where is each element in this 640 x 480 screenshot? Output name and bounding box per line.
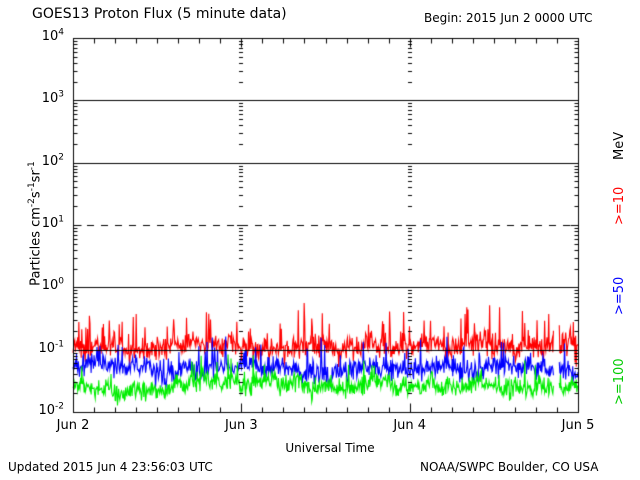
legend-ge10: >=10 <box>612 187 627 225</box>
unit-label: MeV <box>612 132 627 160</box>
x-tick-label: Jun 4 <box>393 418 426 433</box>
credit-label: NOAA/SWPC Boulder, CO USA <box>420 460 598 474</box>
x-axis-label: Universal Time <box>180 441 480 455</box>
updated-timestamp: Updated 2015 Jun 4 23:56:03 UTC <box>8 460 213 474</box>
plot-canvas <box>0 0 640 480</box>
legend-ge50: >=50 <box>612 277 627 315</box>
legend-ge100: >=100 <box>612 358 627 405</box>
x-tick-label: Jun 2 <box>57 418 90 433</box>
proton-flux-plot-page: GOES13 Proton Flux (5 minute data) Begin… <box>0 0 640 480</box>
x-tick-label: Jun 3 <box>225 418 258 433</box>
x-tick-label: Jun 5 <box>562 418 595 433</box>
